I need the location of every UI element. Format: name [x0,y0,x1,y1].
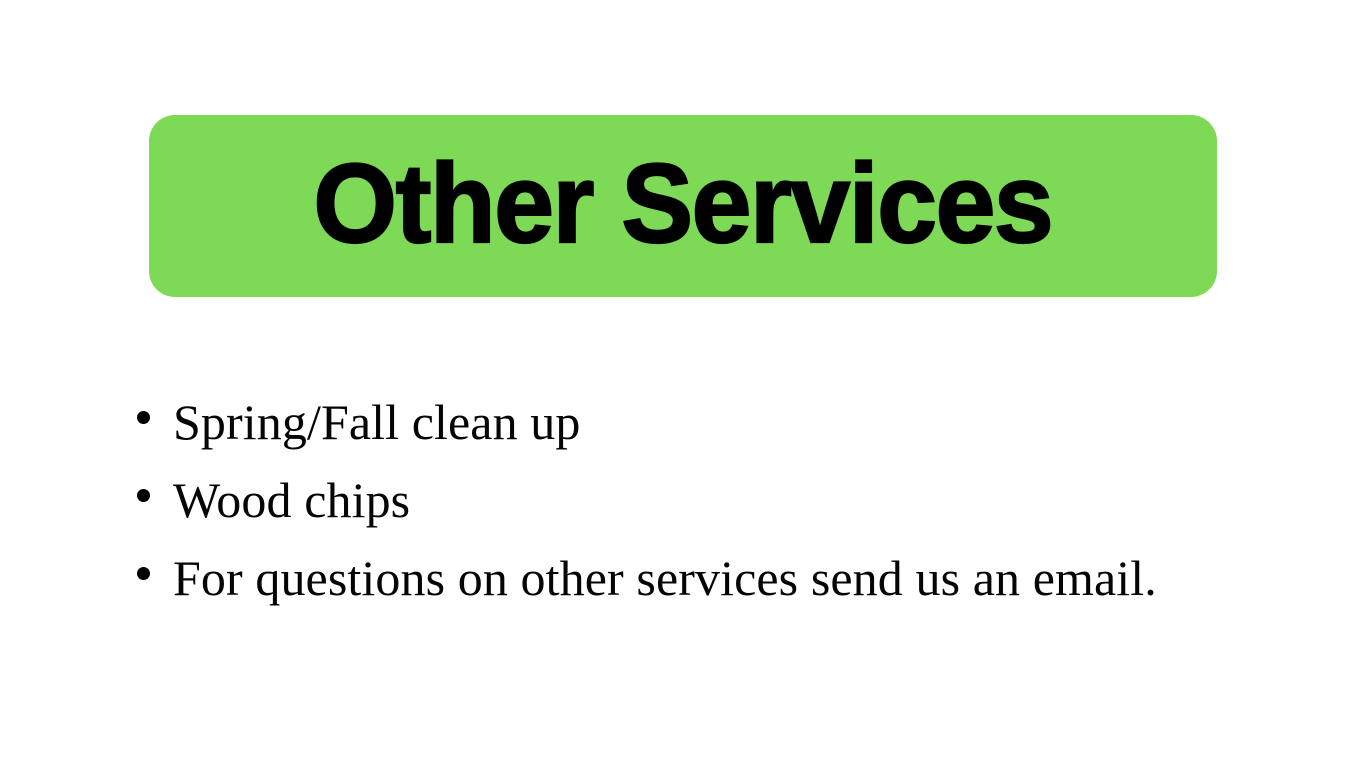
list-item-label: Spring/Fall clean up [173,383,1260,461]
bullet-dot-icon [137,567,150,580]
list-item-label: Wood chips [173,461,1260,539]
page-title: Other Services [314,148,1053,260]
list-item: Wood chips [130,461,1260,539]
list-item-label: For questions on other services send us … [173,539,1260,617]
title-banner: Other Services [149,115,1217,297]
list-item: Spring/Fall clean up [130,383,1260,461]
bullet-dot-icon [137,411,150,424]
services-bullet-list: Spring/Fall clean up Wood chips For ques… [130,383,1260,617]
slide-canvas: Other Services Spring/Fall clean up Wood… [0,0,1366,768]
list-item: For questions on other services send us … [130,539,1260,617]
bullet-dot-icon [137,489,150,502]
